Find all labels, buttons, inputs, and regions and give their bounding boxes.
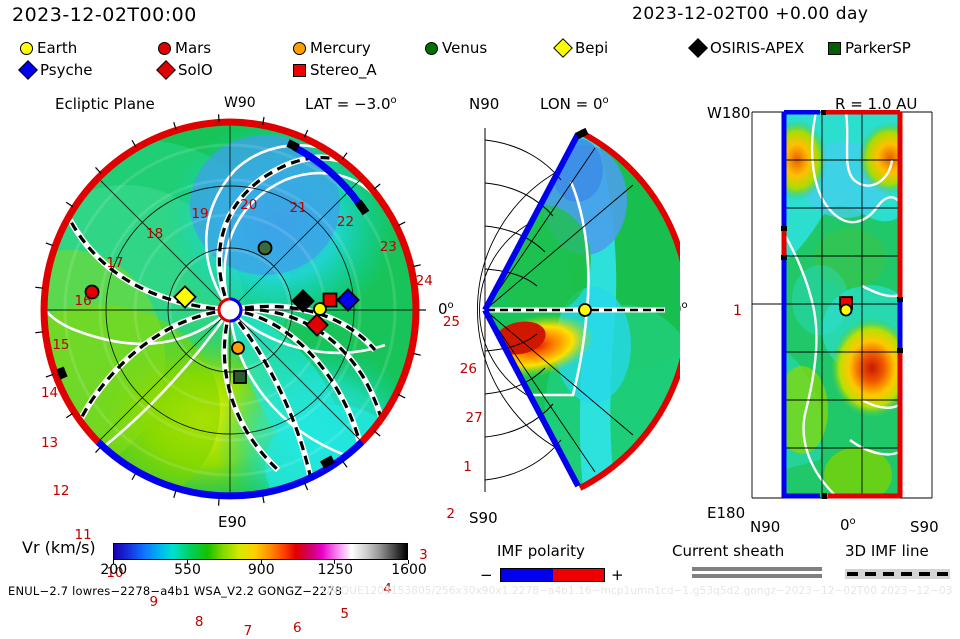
osiris-apex-symbol-icon <box>688 38 708 58</box>
imf-polarity-bar <box>500 568 605 582</box>
sun-marker <box>219 299 241 321</box>
ecliptic-day-label-18: 18 <box>146 228 163 242</box>
ecliptic-day-label-13: 13 <box>41 437 58 451</box>
map-s90-label: S90 <box>910 518 939 536</box>
legend-label-stereo-a: Stereo_A <box>310 63 377 78</box>
ecliptic-day-label-12: 12 <box>52 485 69 499</box>
legend-row-secondary: PsycheSolOStereo_A <box>10 60 950 82</box>
legend-item-bepi[interactable]: Bepi <box>555 38 608 58</box>
earth-symbol-icon <box>20 42 33 55</box>
mars-symbol-icon <box>158 42 171 55</box>
ecliptic-day-label-23: 23 <box>380 241 397 255</box>
zero-sup: o <box>448 300 454 311</box>
colorbar-tick-1250: 1250 <box>317 562 353 578</box>
mercury-symbol-icon <box>293 42 306 55</box>
earth-marker[interactable] <box>579 304 591 316</box>
imf-polarity-title: IMF polarity <box>497 542 585 560</box>
psyche-symbol-icon <box>18 60 38 80</box>
current-sheath-title: Current sheath <box>672 542 784 560</box>
meridional-plane-plot[interactable] <box>465 110 680 510</box>
ecliptic-day-label-24: 24 <box>416 275 433 289</box>
ecliptic-day-label-6: 6 <box>293 622 302 636</box>
parkersp-marker[interactable] <box>234 371 246 383</box>
zero-sup: o <box>850 516 856 527</box>
imf-3d-line-title: 3D IMF line <box>845 542 929 560</box>
colorbar-tick-900: 900 <box>248 562 275 578</box>
colorbar-tick-1600: 1600 <box>391 562 427 578</box>
current-sheath-swatch <box>692 567 822 581</box>
parkersp-symbol-icon <box>828 42 841 55</box>
map-e180-label: E180 <box>707 504 745 522</box>
degree-sup: o <box>391 95 397 106</box>
ecliptic-day-label-14: 14 <box>41 387 58 401</box>
timestamp-right: 2023-12-02T00 +0.00 day <box>632 4 868 24</box>
stereo-a-marker[interactable] <box>324 294 337 307</box>
ecliptic-day-label-21: 21 <box>289 202 306 216</box>
map-zero-label: 0o <box>840 516 856 534</box>
earth-marker[interactable] <box>841 305 852 316</box>
bepi-symbol-icon <box>553 38 573 58</box>
model-run-id: ENUL−2.7 lowres−2278−a4b1 WSA_V2.2 GONGZ… <box>8 584 342 598</box>
zero-text: 0 <box>840 516 850 534</box>
colorbar-label: Vr (km/s) <box>22 538 96 557</box>
imf-positive-sign: + <box>611 566 624 584</box>
legend-item-earth[interactable]: Earth <box>20 38 77 58</box>
ecliptic-day-label-25: 25 <box>443 316 460 330</box>
legend-label-earth: Earth <box>37 41 77 56</box>
solo-symbol-icon <box>156 60 176 80</box>
legend-row-primary: EarthMarsMercuryVenusBepiOSIRIS-APEXPark… <box>10 38 950 60</box>
imf-negative-swatch <box>501 569 553 581</box>
colorbar-tick-550: 550 <box>174 562 201 578</box>
map-n90-label: N90 <box>750 518 780 536</box>
ecliptic-day-label-5: 5 <box>340 608 349 622</box>
mercury-marker[interactable] <box>232 342 244 354</box>
ecliptic-e90-label: E90 <box>218 513 247 531</box>
legend-label-mars: Mars <box>175 41 211 56</box>
ecliptic-w90-label: W90 <box>224 95 256 111</box>
legend-label-osiris-apex: OSIRIS-APEX <box>710 41 804 56</box>
ecliptic-day-label-15: 15 <box>52 339 69 353</box>
ecliptic-day-label-2: 2 <box>446 508 455 522</box>
legend-label-psyche: Psyche <box>40 63 92 78</box>
ecliptic-plane-plot[interactable]: 1234567891011121314151617181920212223242… <box>30 110 430 510</box>
meridional-svg <box>465 110 680 510</box>
ecliptic-day-label-19: 19 <box>191 208 208 222</box>
venus-marker[interactable] <box>259 242 272 255</box>
lon-sup: o <box>603 95 609 106</box>
zero-sup: o <box>682 300 688 311</box>
ecliptic-day-label-9: 9 <box>150 596 159 610</box>
ecliptic-day-label-17: 17 <box>106 257 123 271</box>
colorbar-gradient <box>113 543 408 560</box>
timestamp-left: 2023-12-02T00:00 <box>12 4 197 26</box>
legend-item-mars[interactable]: Mars <box>158 38 211 58</box>
map-row-label: 1 <box>733 303 742 319</box>
colorbar-tick-200: 200 <box>100 562 127 578</box>
ecliptic-svg <box>30 110 430 510</box>
legend-label-bepi: Bepi <box>575 41 608 56</box>
ecliptic-day-label-20: 20 <box>240 199 257 213</box>
stereo-a-symbol-icon <box>293 64 306 77</box>
legend-item-mercury[interactable]: Mercury <box>293 38 371 58</box>
legend-label-parkersp: ParkerSP <box>845 41 911 56</box>
legend-item-psyche[interactable]: Psyche <box>20 60 92 80</box>
legend-label-solo: SolO <box>178 63 213 78</box>
imf-positive-swatch <box>553 569 605 581</box>
ecliptic-day-label-8: 8 <box>195 616 204 630</box>
run-watermark: UNIQUE1203153805/256x30x90x1.2278−a4b1.1… <box>322 585 953 597</box>
map-svg <box>750 110 935 500</box>
legend-item-stereo-a[interactable]: Stereo_A <box>293 60 377 80</box>
legend-label-mercury: Mercury <box>310 41 371 56</box>
ecliptic-day-label-16: 16 <box>75 295 92 309</box>
legend-item-osiris-apex[interactable]: OSIRIS-APEX <box>690 38 804 58</box>
imf-negative-sign: − <box>480 566 493 584</box>
legend-item-solo[interactable]: SolO <box>158 60 213 80</box>
imf-3d-line-dash <box>847 572 948 576</box>
meridional-body-markers <box>579 304 591 316</box>
legend-item-parkersp[interactable]: ParkerSP <box>828 38 911 58</box>
earth-marker[interactable] <box>314 303 326 315</box>
ecliptic-day-label-3: 3 <box>419 549 428 563</box>
ecliptic-day-label-22: 22 <box>337 216 354 230</box>
legend-item-venus[interactable]: Venus <box>425 38 487 58</box>
legend-label-venus: Venus <box>442 41 487 56</box>
ecliptic-day-label-7: 7 <box>244 625 253 639</box>
map-w180-label: W180 <box>707 104 750 122</box>
map-body-markers <box>840 297 852 316</box>
meridional-s90-label: S90 <box>469 509 498 527</box>
radius-map-plot[interactable] <box>750 110 935 500</box>
venus-symbol-icon <box>425 42 438 55</box>
